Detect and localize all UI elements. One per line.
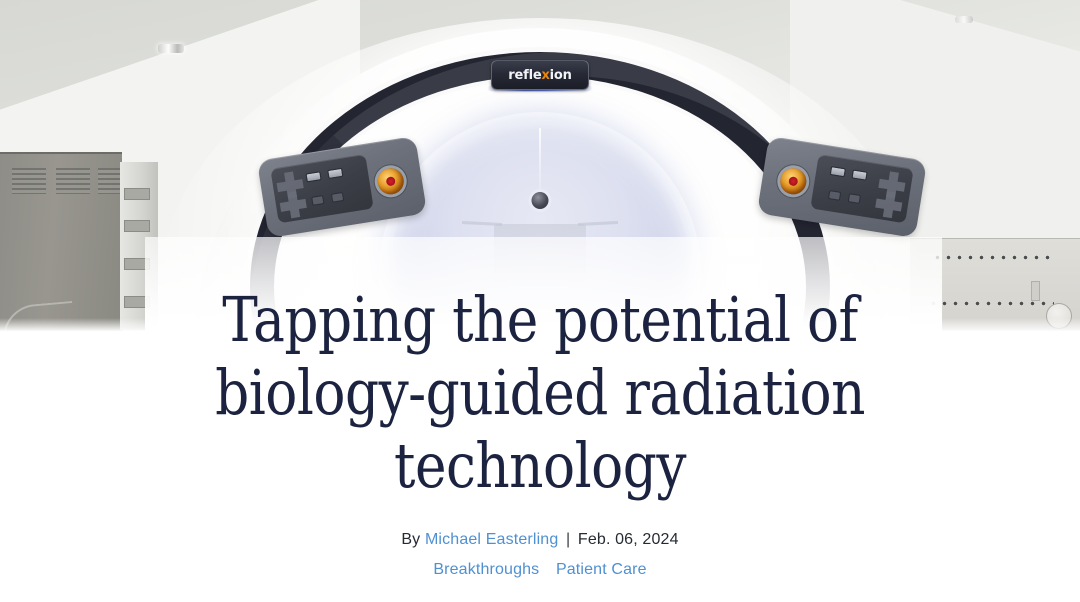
- pod-display-icon: [830, 166, 846, 177]
- article-header: Tapping the potential of biology-guided …: [0, 283, 1080, 579]
- pod-button[interactable]: [331, 192, 344, 203]
- pod-button[interactable]: [848, 193, 861, 204]
- device-brand-label: reflexion: [508, 69, 571, 82]
- publish-date: Feb. 06, 2024: [578, 531, 679, 548]
- ceiling-downlight-icon: [158, 44, 184, 53]
- byline-separator: |: [566, 531, 570, 548]
- tag-breakthroughs[interactable]: Breakthroughs: [433, 561, 539, 578]
- pod-display-icon: [327, 168, 343, 179]
- author-link[interactable]: Michael Easterling: [425, 531, 558, 548]
- ceiling-downlight-secondary-icon: [955, 16, 973, 23]
- cabinet-vent: [56, 168, 90, 194]
- article-hero-page: reflexion: [0, 0, 1080, 602]
- wall-perforation-row: [932, 255, 1052, 260]
- pod-button[interactable]: [828, 190, 841, 201]
- tag-patient-care[interactable]: Patient Care: [556, 561, 647, 578]
- rack-slot: [124, 258, 150, 270]
- cabinet-vent: [12, 168, 46, 194]
- emergency-stop-button[interactable]: [376, 166, 406, 196]
- left-control-panel[interactable]: [270, 154, 373, 223]
- pod-dpad-icon[interactable]: [278, 190, 308, 220]
- pod-dpad-icon[interactable]: [874, 190, 904, 220]
- tag-list: Breakthroughs Patient Care: [0, 561, 1080, 579]
- byline: By Michael Easterling | Feb. 06, 2024: [0, 531, 1080, 549]
- page-title: Tapping the potential of biology-guided …: [76, 283, 1005, 502]
- right-control-panel[interactable]: [810, 154, 913, 223]
- rack-slot: [124, 220, 150, 232]
- pod-display-icon: [851, 169, 867, 180]
- rack-slot: [124, 188, 150, 200]
- pod-button[interactable]: [311, 195, 324, 206]
- byline-prefix: By: [401, 531, 420, 548]
- emergency-stop-button[interactable]: [778, 166, 808, 196]
- pod-display-icon: [305, 171, 321, 182]
- brand-accent-letter: x: [541, 68, 549, 83]
- device-brand-badge: reflexion: [491, 60, 589, 90]
- hero-image: reflexion: [0, 0, 1080, 331]
